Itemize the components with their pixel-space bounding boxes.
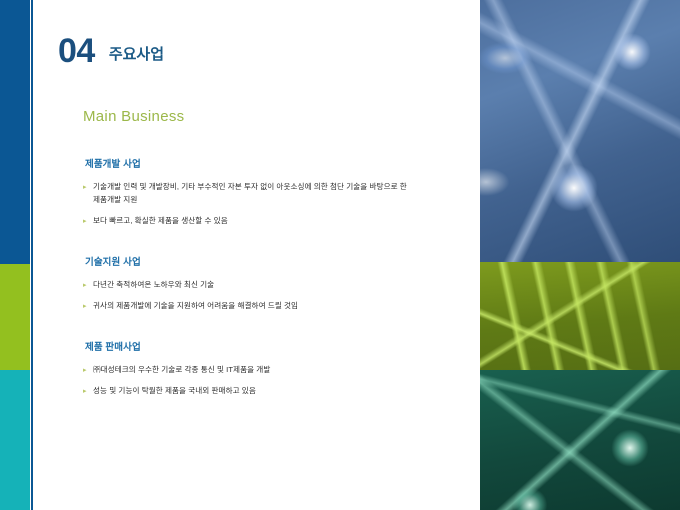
- green-light-streaks-image: [480, 262, 680, 370]
- bullet-item: ▸ 귀사의 제품개발에 기술을 지원하여 어려움을 해결하여 드릴 것임: [83, 300, 413, 313]
- bullet-arrow-icon: ▸: [83, 364, 93, 374]
- bullet-item: ▸ ㈜대성테크의 우수한 기술로 각종 통신 및 IT제품을 개발: [83, 364, 413, 377]
- bullet-item: ▸ 다년간 축적하여온 노하우와 최신 기술: [83, 279, 413, 292]
- section-title: 기술지원 사업: [85, 254, 413, 268]
- bullet-arrow-icon: ▸: [83, 279, 93, 289]
- rail-band-teal: [0, 370, 30, 510]
- bullet-arrow-icon: ▸: [83, 215, 93, 225]
- bullet-text: ㈜대성테크의 우수한 기술로 각종 통신 및 IT제품을 개발: [93, 364, 270, 377]
- bullet-arrow-icon: ▸: [83, 181, 93, 191]
- left-color-rail: [0, 0, 30, 510]
- bullet-arrow-icon: ▸: [83, 300, 93, 310]
- slide-header: 04 주요사업: [58, 34, 164, 68]
- bullet-item: ▸ 성능 및 기능이 탁월한 제품을 국내외 판매하고 있음: [83, 385, 413, 398]
- business-section: 기술지원 사업 ▸ 다년간 축적하여온 노하우와 최신 기술 ▸ 귀사의 제품개…: [83, 254, 413, 313]
- presentation-slide: 04 주요사업 Main Business 제품개발 사업 ▸ 기술개발 인력 …: [0, 0, 680, 510]
- bullet-text: 보다 빠르고, 확실한 제품을 생산할 수 있음: [93, 215, 228, 228]
- page-title: 주요사업: [109, 47, 164, 68]
- bullet-text: 성능 및 기능이 탁월한 제품을 국내외 판매하고 있음: [93, 385, 256, 398]
- bullet-text: 귀사의 제품개발에 기술을 지원하여 어려움을 해결하여 드릴 것임: [93, 300, 298, 313]
- section-title: 제품 판매사업: [85, 339, 413, 353]
- bullet-arrow-icon: ▸: [83, 385, 93, 395]
- blue-network-nodes-image: [480, 0, 680, 262]
- bullet-text: 기술개발 인력 및 개발장비, 기타 부수적인 자본 투자 없이 아웃소싱에 의…: [93, 181, 413, 206]
- decorative-image-panel: [480, 0, 680, 510]
- main-heading: Main Business: [83, 108, 413, 125]
- business-section: 제품개발 사업 ▸ 기술개발 인력 및 개발장비, 기타 부수적인 자본 투자 …: [83, 156, 413, 228]
- section-title: 제품개발 사업: [85, 156, 413, 170]
- rail-band-blue: [0, 0, 30, 264]
- bullet-text: 다년간 축적하여온 노하우와 최신 기술: [93, 279, 214, 292]
- teal-network-nodes-image: [480, 370, 680, 510]
- slide-body: Main Business 제품개발 사업 ▸ 기술개발 인력 및 개발장비, …: [83, 108, 413, 398]
- business-section: 제품 판매사업 ▸ ㈜대성테크의 우수한 기술로 각종 통신 및 IT제품을 개…: [83, 339, 413, 398]
- section-number: 04: [58, 34, 95, 68]
- bullet-item: ▸ 기술개발 인력 및 개발장비, 기타 부수적인 자본 투자 없이 아웃소싱에…: [83, 181, 413, 206]
- rail-accent-line: [31, 0, 33, 510]
- bullet-item: ▸ 보다 빠르고, 확실한 제품을 생산할 수 있음: [83, 215, 413, 228]
- rail-band-green: [0, 264, 30, 370]
